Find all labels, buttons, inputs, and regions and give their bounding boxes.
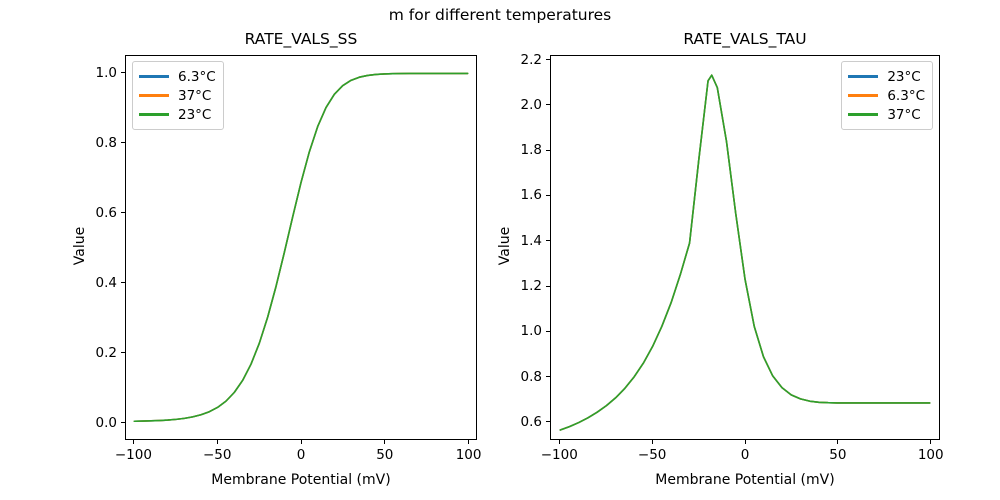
y-axis-label: Value bbox=[72, 196, 88, 296]
y-tickmark bbox=[121, 142, 125, 143]
x-tick-label: −100 bbox=[541, 447, 578, 463]
subplot-title-right: RATE_VALS_TAU bbox=[551, 30, 939, 48]
y-tick-label: 0.6 bbox=[498, 414, 542, 430]
legend-color-swatch bbox=[139, 94, 169, 96]
x-tickmark bbox=[301, 440, 302, 444]
y-axis-label: Value bbox=[497, 196, 513, 296]
legend-label: 6.3°C bbox=[887, 88, 925, 104]
legend-right[interactable]: 23°C6.3°C37°C bbox=[841, 61, 933, 130]
legend-label: 6.3°C bbox=[178, 69, 216, 85]
legend-color-swatch bbox=[848, 113, 878, 115]
subplot-rate-vals-tau: RATE_VALS_TAU 23°C6.3°C37°C bbox=[550, 55, 940, 440]
y-tickmark bbox=[121, 352, 125, 353]
x-tickmark bbox=[837, 440, 838, 444]
y-tickmark bbox=[121, 72, 125, 73]
legend-label: 37°C bbox=[887, 107, 920, 123]
legend-item[interactable]: 6.3°C bbox=[848, 86, 925, 105]
y-tick-label: 0.2 bbox=[73, 345, 117, 361]
y-tick-label: 1.8 bbox=[498, 142, 542, 158]
matplotlib-figure: m for different temperatures RATE_VALS_S… bbox=[0, 0, 1000, 500]
x-tickmark bbox=[384, 440, 385, 444]
legend-color-swatch bbox=[848, 94, 878, 96]
x-tick-label: 0 bbox=[741, 447, 750, 463]
x-tick-label: −100 bbox=[115, 447, 152, 463]
legend-label: 37°C bbox=[178, 88, 211, 104]
legend-item[interactable]: 23°C bbox=[139, 105, 216, 124]
x-axis-label: Membrane Potential (mV) bbox=[125, 472, 477, 488]
legend-label: 23°C bbox=[178, 107, 211, 123]
x-tick-label: 0 bbox=[297, 447, 306, 463]
figure-suptitle: m for different temperatures bbox=[0, 6, 1000, 24]
legend-item[interactable]: 37°C bbox=[139, 86, 216, 105]
y-tick-label: 2.2 bbox=[498, 52, 542, 68]
y-tick-label: 1.0 bbox=[498, 323, 542, 339]
x-tick-label: 100 bbox=[918, 447, 944, 463]
y-tickmark bbox=[546, 376, 550, 377]
legend-label: 23°C bbox=[887, 69, 920, 85]
legend-left[interactable]: 6.3°C37°C23°C bbox=[132, 61, 224, 130]
x-tickmark bbox=[559, 440, 560, 444]
x-tick-label: −50 bbox=[638, 447, 667, 463]
y-tickmark bbox=[546, 331, 550, 332]
subplot-rate-vals-ss: RATE_VALS_SS 6.3°C37°C23°C bbox=[125, 55, 477, 440]
y-tick-label: 0.0 bbox=[73, 415, 117, 431]
x-tick-label: 50 bbox=[829, 447, 846, 463]
x-tick-label: 50 bbox=[376, 447, 393, 463]
y-tick-label: 2.0 bbox=[498, 97, 542, 113]
legend-color-swatch bbox=[139, 75, 169, 77]
y-tickmark bbox=[121, 212, 125, 213]
legend-color-swatch bbox=[848, 75, 878, 77]
x-tick-label: 100 bbox=[456, 447, 482, 463]
y-tickmark bbox=[546, 421, 550, 422]
y-tickmark bbox=[546, 286, 550, 287]
y-tickmark bbox=[546, 59, 550, 60]
legend-color-swatch bbox=[139, 113, 169, 115]
y-tickmark bbox=[546, 240, 550, 241]
x-tickmark bbox=[652, 440, 653, 444]
x-tickmark bbox=[745, 440, 746, 444]
legend-item[interactable]: 23°C bbox=[848, 67, 925, 86]
y-tickmark bbox=[121, 422, 125, 423]
y-tick-label: 0.8 bbox=[498, 369, 542, 385]
legend-item[interactable]: 37°C bbox=[848, 105, 925, 124]
x-tickmark bbox=[930, 440, 931, 444]
y-tick-label: 0.8 bbox=[73, 135, 117, 151]
y-tickmark bbox=[546, 195, 550, 196]
y-tick-label: 1.0 bbox=[73, 65, 117, 81]
y-tickmark bbox=[121, 282, 125, 283]
x-tickmark bbox=[133, 440, 134, 444]
y-tickmark bbox=[546, 150, 550, 151]
subplot-title-left: RATE_VALS_SS bbox=[126, 30, 476, 48]
x-tickmark bbox=[217, 440, 218, 444]
legend-item[interactable]: 6.3°C bbox=[139, 67, 216, 86]
x-tick-label: −50 bbox=[203, 447, 232, 463]
y-tickmark bbox=[546, 104, 550, 105]
x-axis-label: Membrane Potential (mV) bbox=[550, 472, 940, 488]
x-tickmark bbox=[468, 440, 469, 444]
